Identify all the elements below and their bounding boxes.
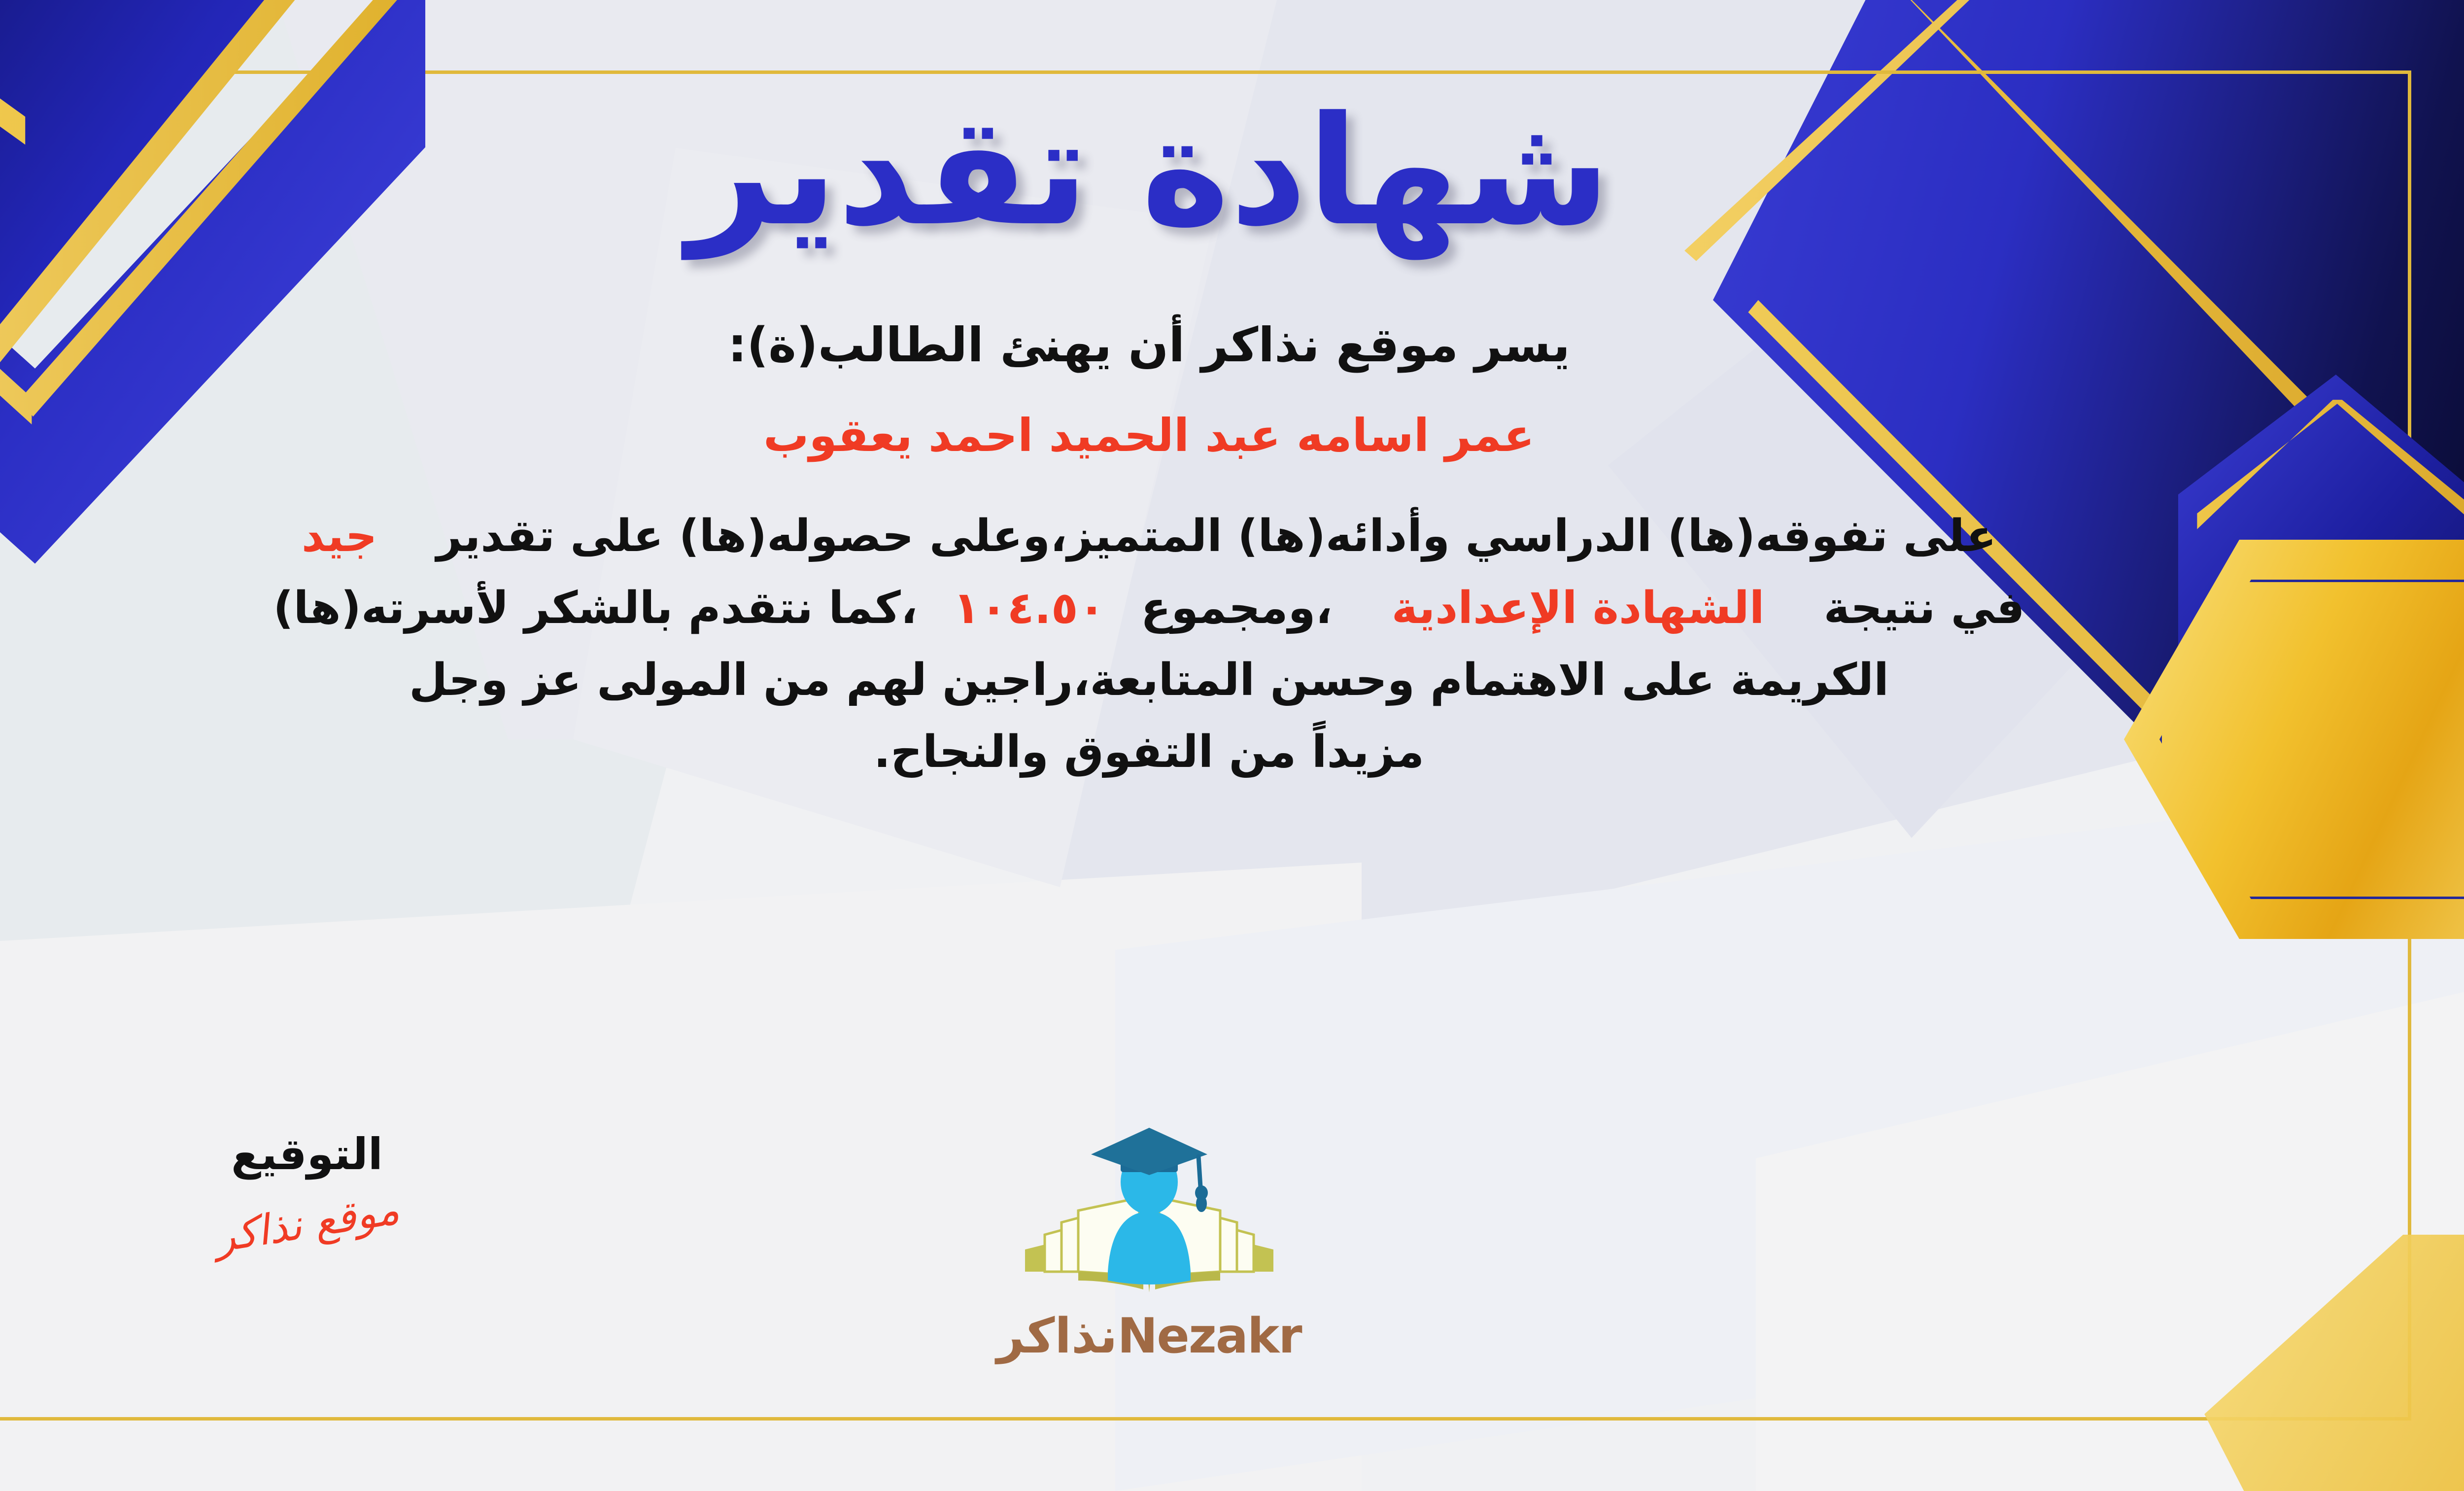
congratulation-intro: يسر موقع نذاكر أن يهنئ الطالب(ة): (0, 310, 2380, 381)
exam-prefix: في نتيجة (1824, 582, 2025, 634)
thanks-text: ،كما نتقدم بالشكر لأسرته(ها) (273, 582, 918, 634)
student-name: عمر اسامه عبد الحميد احمد يعقوب (0, 409, 2380, 462)
nezakr-logo: Nezakrنذاكر (962, 1124, 1336, 1364)
achievement-text-part1: على تفوقه(ها) الدراسي وأدائه(ها) المتميز… (436, 510, 1996, 562)
certificate-footer: التوقيع موقع نذاكر (0, 1129, 2464, 1405)
certificate-page: شهادة تقدير يسر موقع نذاكر أن يهنئ الطال… (0, 0, 2464, 1491)
total-prefix: ،ومجموع (1141, 582, 1333, 634)
graduate-book-logo-icon (1016, 1124, 1282, 1311)
grade-value: جيد (302, 510, 377, 562)
closing-wish-text: مزيداً من التفوق والنجاح. (874, 726, 1424, 778)
total-score-value: ١٠٤.٥٠ (953, 582, 1105, 634)
family-thanks-text: الكريمة على الاهتمام وحسن المتابعة،راجين… (409, 654, 1889, 706)
signature-label: التوقيع (149, 1129, 465, 1179)
logo-wordmark: Nezakrنذاكر (962, 1308, 1336, 1364)
certificate-body: يسر موقع نذاكر أن يهنئ الطالب(ة): عمر اس… (0, 310, 2380, 788)
exam-name: الشهادة الإعدادية (1392, 582, 1765, 634)
certificate-title: شهادة تقدير (0, 93, 2380, 250)
signature-handwriting: موقع نذاكر (211, 1185, 403, 1262)
achievement-paragraph: على تفوقه(ها) الدراسي وأدائه(ها) المتميز… (0, 500, 2380, 788)
signature-block: التوقيع موقع نذاكر (149, 1129, 465, 1248)
